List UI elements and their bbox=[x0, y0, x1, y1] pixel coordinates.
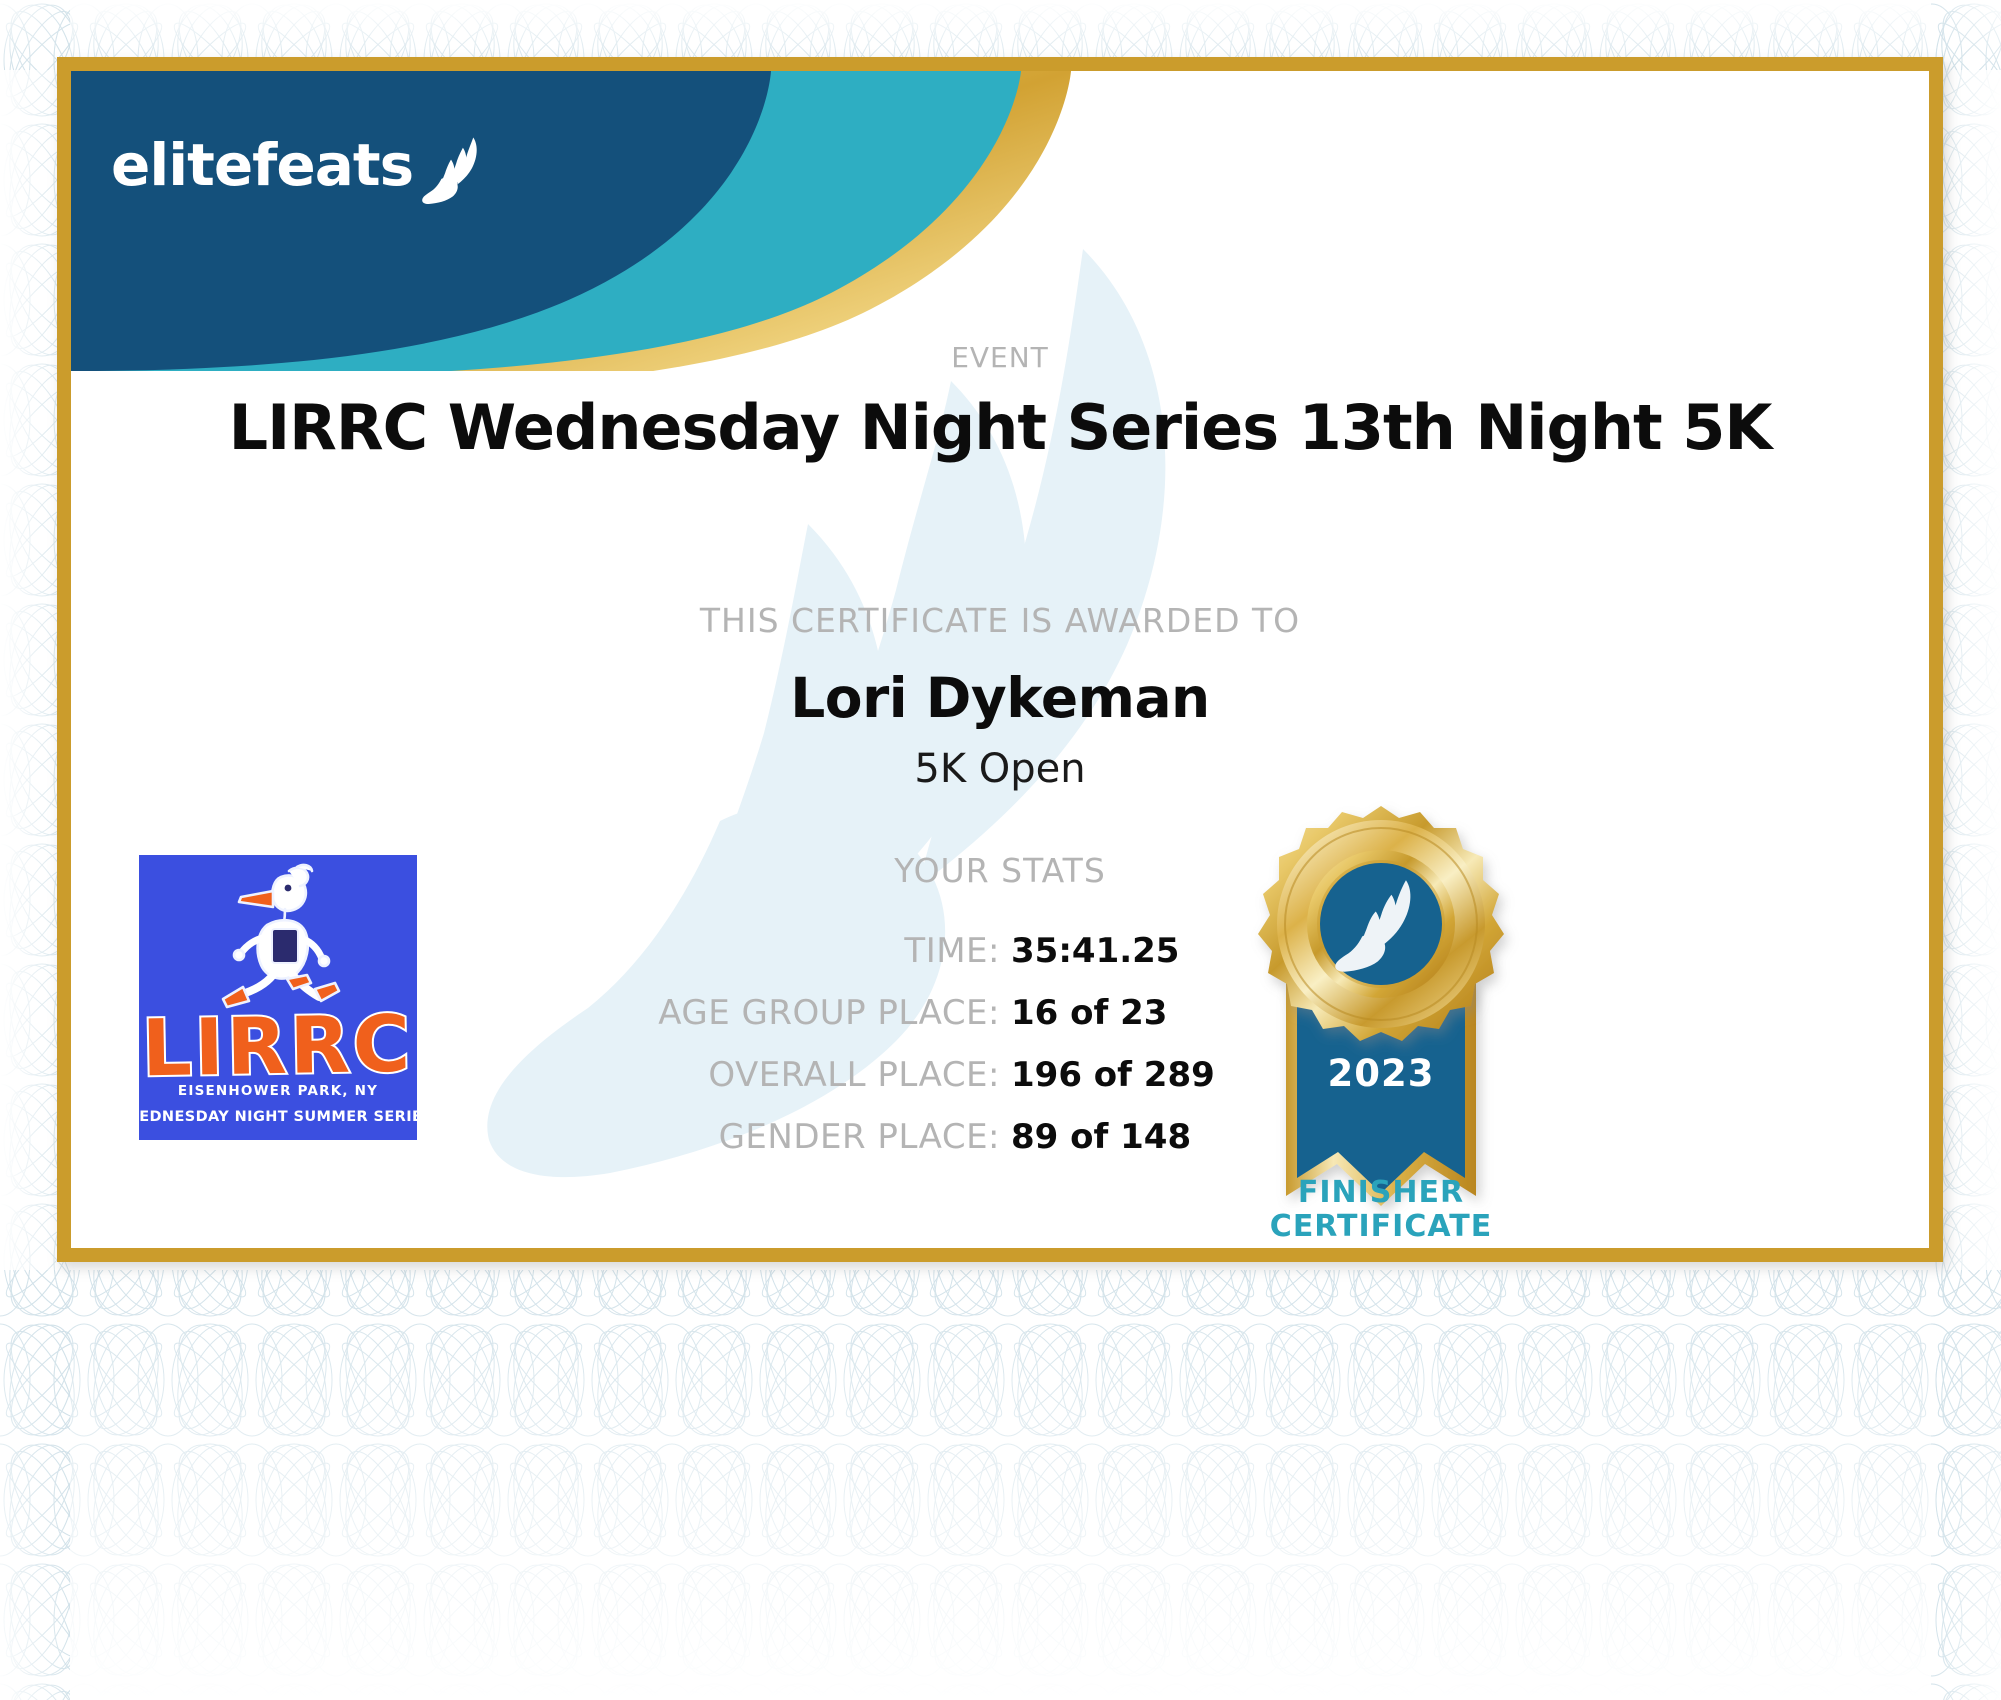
lirrc-wordmark: LIRRC bbox=[141, 1000, 414, 1095]
stat-key: GENDER PLACE: bbox=[340, 1117, 1000, 1157]
awarded-to-label: THIS CERTIFICATE IS AWARDED TO bbox=[71, 601, 1929, 640]
lirrc-club-logo: LIRRC EISENHOWER PARK, NY WEDNESDAY NIGH… bbox=[139, 855, 417, 1140]
elitefeats-logo: elitefeats bbox=[111, 133, 491, 197]
lirrc-location: EISENHOWER PARK, NY bbox=[178, 1083, 378, 1099]
finisher-certificate-caption: FINISHER CERTIFICATE bbox=[1191, 1176, 1571, 1243]
event-label: EVENT bbox=[71, 341, 1929, 374]
finisher-caption-line1: FINISHER bbox=[1191, 1176, 1571, 1210]
stat-key: AGE GROUP PLACE: bbox=[340, 993, 1000, 1033]
medal-year: 2023 bbox=[1328, 1052, 1435, 1095]
recipient-name: Lori Dykeman bbox=[71, 666, 1929, 730]
event-title: LIRRC Wednesday Night Series 13th Night … bbox=[71, 391, 1929, 464]
certificate-frame: elitefeats EVENT LIRRC Wednesday Night S… bbox=[57, 57, 1943, 1262]
elitefeats-wordmark: elitefeats bbox=[111, 136, 413, 194]
svg-text:LIRRC: LIRRC bbox=[141, 1000, 414, 1095]
certificate-page: elitefeats EVENT LIRRC Wednesday Night S… bbox=[0, 0, 2001, 1700]
finisher-caption-line2: CERTIFICATE bbox=[1191, 1210, 1571, 1244]
stat-key: OVERALL PLACE: bbox=[340, 1055, 1000, 1095]
winged-foot-icon bbox=[417, 133, 491, 207]
lirrc-series: WEDNESDAY NIGHT SUMMER SERIES bbox=[139, 1109, 417, 1125]
medal-rosette bbox=[1258, 806, 1504, 1041]
recipient-division: 5K Open bbox=[71, 746, 1929, 792]
stat-key: TIME: bbox=[340, 931, 1000, 971]
